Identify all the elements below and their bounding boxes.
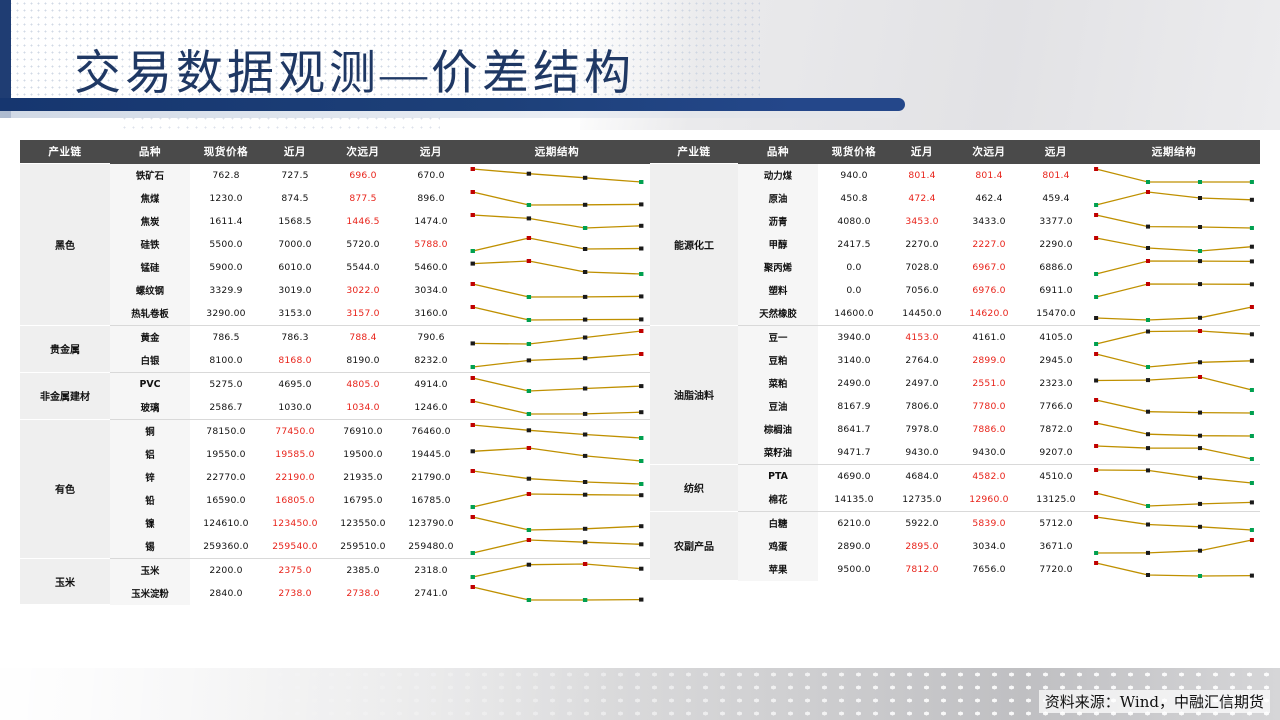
near-month-cell: 2895.0	[890, 535, 954, 558]
second-far-month-cell: 4805.0	[328, 372, 398, 396]
table-row: 苹果9500.07812.07656.07720.0	[650, 558, 1260, 581]
variety-cell: 硅铁	[110, 233, 190, 256]
spot-price-cell: 2200.0	[190, 558, 262, 582]
second-far-month-cell: 5839.0	[954, 511, 1024, 535]
column-header-1: 品种	[110, 140, 190, 164]
table-row: 能源化工动力煤940.0801.4801.4801.4	[650, 164, 1260, 187]
forward-structure-sparkline	[464, 233, 650, 256]
far-month-cell: 19445.0	[398, 443, 464, 466]
forward-structure-sparkline	[464, 164, 650, 187]
forward-structure-sparkline	[1088, 279, 1260, 302]
forward-structure-sparkline	[1088, 418, 1260, 441]
second-far-month-cell: 14620.0	[954, 302, 1024, 326]
forward-structure-sparkline	[1088, 302, 1260, 326]
table-row: 焦煤1230.0874.5877.5896.0	[20, 187, 650, 210]
second-far-month-cell: 5720.0	[328, 233, 398, 256]
variety-cell: 豆一	[738, 325, 818, 349]
table-header-row: 产业链品种现货价格近月次远月远月远期结构	[650, 140, 1260, 164]
forward-structure-sparkline	[1088, 164, 1260, 187]
variety-cell: 玉米淀粉	[110, 582, 190, 605]
variety-cell: 菜粕	[738, 372, 818, 395]
far-month-cell: 8232.0	[398, 349, 464, 373]
near-month-cell: 7000.0	[262, 233, 328, 256]
spot-price-cell: 4690.0	[818, 464, 890, 488]
near-month-cell: 7812.0	[890, 558, 954, 581]
forward-structure-sparkline	[464, 419, 650, 443]
spot-price-cell: 78150.0	[190, 419, 262, 443]
column-header-2: 现货价格	[818, 140, 890, 164]
table-row: 菜粕2490.02497.02551.02323.0	[650, 372, 1260, 395]
forward-structure-sparkline	[464, 512, 650, 535]
price-structure-table-right: 产业链品种现货价格近月次远月远月远期结构 能源化工动力煤940.0801.480…	[650, 140, 1260, 581]
forward-structure-sparkline	[464, 443, 650, 466]
spot-price-cell: 14600.0	[818, 302, 890, 326]
spot-price-cell: 5900.0	[190, 256, 262, 279]
variety-cell: 豆粕	[738, 349, 818, 372]
spot-price-cell: 0.0	[818, 256, 890, 279]
spot-price-cell: 259360.0	[190, 535, 262, 559]
second-far-month-cell: 1034.0	[328, 396, 398, 420]
near-month-cell: 786.3	[262, 325, 328, 349]
second-far-month-cell: 76910.0	[328, 419, 398, 443]
second-far-month-cell: 801.4	[954, 164, 1024, 187]
far-month-cell: 15470.0	[1024, 302, 1088, 326]
industry-chain-cell: 非金属建材	[20, 372, 110, 419]
industry-chain-cell: 纺织	[650, 464, 738, 511]
far-month-cell: 5712.0	[1024, 511, 1088, 535]
far-month-cell: 2323.0	[1024, 372, 1088, 395]
variety-cell: 白糖	[738, 511, 818, 535]
table-row: 甲醇2417.52270.02227.02290.0	[650, 233, 1260, 256]
variety-cell: 菜籽油	[738, 441, 818, 465]
near-month-cell: 8168.0	[262, 349, 328, 373]
table-row: 锰硅5900.06010.05544.05460.0	[20, 256, 650, 279]
column-header-6: 远期结构	[1088, 140, 1260, 164]
variety-cell: 锰硅	[110, 256, 190, 279]
table-row: 棕榈油8641.77978.07886.07872.0	[650, 418, 1260, 441]
forward-structure-sparkline	[1088, 372, 1260, 395]
second-far-month-cell: 7886.0	[954, 418, 1024, 441]
spot-price-cell: 124610.0	[190, 512, 262, 535]
table-row: 豆油8167.97806.07780.07766.0	[650, 395, 1260, 418]
near-month-cell: 77450.0	[262, 419, 328, 443]
near-month-cell: 3453.0	[890, 210, 954, 233]
far-month-cell: 4914.0	[398, 372, 464, 396]
forward-structure-sparkline	[1088, 187, 1260, 210]
forward-structure-sparkline	[464, 325, 650, 349]
far-month-cell: 123790.0	[398, 512, 464, 535]
second-far-month-cell: 7780.0	[954, 395, 1024, 418]
table-row: 菜籽油9471.79430.09430.09207.0	[650, 441, 1260, 465]
near-month-cell: 16805.0	[262, 489, 328, 512]
variety-cell: 铅	[110, 489, 190, 512]
second-far-month-cell: 6967.0	[954, 256, 1024, 279]
forward-structure-sparkline	[464, 489, 650, 512]
variety-cell: 苹果	[738, 558, 818, 581]
table-row: 非金属建材PVC5275.04695.04805.04914.0	[20, 372, 650, 396]
far-month-cell: 3160.0	[398, 302, 464, 326]
second-far-month-cell: 12960.0	[954, 488, 1024, 512]
spot-price-cell: 8100.0	[190, 349, 262, 373]
second-far-month-cell: 123550.0	[328, 512, 398, 535]
forward-structure-sparkline	[464, 396, 650, 420]
far-month-cell: 7872.0	[1024, 418, 1088, 441]
near-month-cell: 4153.0	[890, 325, 954, 349]
near-month-cell: 6010.0	[262, 256, 328, 279]
variety-cell: 玉米	[110, 558, 190, 582]
far-month-cell: 670.0	[398, 164, 464, 187]
near-month-cell: 5922.0	[890, 511, 954, 535]
second-far-month-cell: 2385.0	[328, 558, 398, 582]
title-underline-band	[0, 98, 905, 111]
near-month-cell: 7028.0	[890, 256, 954, 279]
spot-price-cell: 9500.0	[818, 558, 890, 581]
variety-cell: 塑料	[738, 279, 818, 302]
second-far-month-cell: 3157.0	[328, 302, 398, 326]
column-header-6: 远期结构	[464, 140, 650, 164]
forward-structure-sparkline	[464, 302, 650, 326]
far-month-cell: 6886.0	[1024, 256, 1088, 279]
near-month-cell: 2738.0	[262, 582, 328, 605]
industry-chain-cell: 有色	[20, 419, 110, 558]
variety-cell: 铜	[110, 419, 190, 443]
second-far-month-cell: 462.4	[954, 187, 1024, 210]
second-far-month-cell: 3022.0	[328, 279, 398, 302]
far-month-cell: 2945.0	[1024, 349, 1088, 372]
forward-structure-sparkline	[464, 582, 650, 605]
near-month-cell: 1568.5	[262, 210, 328, 233]
table-row: 天然橡胶14600.014450.014620.015470.0	[650, 302, 1260, 326]
spot-price-cell: 3290.00	[190, 302, 262, 326]
far-month-cell: 4105.0	[1024, 325, 1088, 349]
forward-structure-sparkline	[464, 187, 650, 210]
industry-chain-cell: 农副产品	[650, 511, 738, 581]
far-month-cell: 1246.0	[398, 396, 464, 420]
column-header-2: 现货价格	[190, 140, 262, 164]
variety-cell: 镍	[110, 512, 190, 535]
forward-structure-sparkline	[1088, 325, 1260, 349]
table-row: 鸡蛋2890.02895.03034.03671.0	[650, 535, 1260, 558]
second-far-month-cell: 788.4	[328, 325, 398, 349]
variety-cell: 玻璃	[110, 396, 190, 420]
table-row: 白银8100.08168.08190.08232.0	[20, 349, 650, 373]
table-row: 塑料0.07056.06976.06911.0	[650, 279, 1260, 302]
spot-price-cell: 4080.0	[818, 210, 890, 233]
spot-price-cell: 2840.0	[190, 582, 262, 605]
variety-cell: 豆油	[738, 395, 818, 418]
table-left: 产业链品种现货价格近月次远月远月远期结构 黑色铁矿石762.8727.5696.…	[20, 140, 650, 605]
variety-cell: 甲醇	[738, 233, 818, 256]
near-month-cell: 9430.0	[890, 441, 954, 465]
forward-structure-sparkline	[464, 535, 650, 559]
second-far-month-cell: 4582.0	[954, 464, 1024, 488]
table-row: 玉米玉米2200.02375.02385.02318.0	[20, 558, 650, 582]
table-row: 铅16590.016805.016795.016785.0	[20, 489, 650, 512]
table-row: 玻璃2586.71030.01034.01246.0	[20, 396, 650, 420]
near-month-cell: 3153.0	[262, 302, 328, 326]
second-far-month-cell: 4161.0	[954, 325, 1024, 349]
spot-price-cell: 3140.0	[818, 349, 890, 372]
far-month-cell: 3034.0	[398, 279, 464, 302]
near-month-cell: 801.4	[890, 164, 954, 187]
spot-price-cell: 2586.7	[190, 396, 262, 420]
spot-price-cell: 8641.7	[818, 418, 890, 441]
forward-structure-sparkline	[1088, 210, 1260, 233]
variety-cell: 聚丙烯	[738, 256, 818, 279]
far-month-cell: 7766.0	[1024, 395, 1088, 418]
table-row: 贵金属黄金786.5786.3788.4790.6	[20, 325, 650, 349]
column-header-3: 近月	[890, 140, 954, 164]
second-far-month-cell: 7656.0	[954, 558, 1024, 581]
far-month-cell: 21790.0	[398, 466, 464, 489]
variety-cell: 棉花	[738, 488, 818, 512]
near-month-cell: 472.4	[890, 187, 954, 210]
second-far-month-cell: 696.0	[328, 164, 398, 187]
forward-structure-sparkline	[1088, 535, 1260, 558]
far-month-cell: 16785.0	[398, 489, 464, 512]
spot-price-cell: 2890.0	[818, 535, 890, 558]
forward-structure-sparkline	[464, 210, 650, 233]
industry-chain-cell: 油脂油料	[650, 325, 738, 464]
column-header-0: 产业链	[20, 140, 110, 164]
spot-price-cell: 14135.0	[818, 488, 890, 512]
table-row: 油脂油料豆一3940.04153.04161.04105.0	[650, 325, 1260, 349]
variety-cell: 原油	[738, 187, 818, 210]
second-far-month-cell: 2738.0	[328, 582, 398, 605]
spot-price-cell: 3329.9	[190, 279, 262, 302]
table-row: 沥青4080.03453.03433.03377.0	[650, 210, 1260, 233]
spot-price-cell: 0.0	[818, 279, 890, 302]
near-month-cell: 3019.0	[262, 279, 328, 302]
near-month-cell: 2375.0	[262, 558, 328, 582]
title-underline-shadow	[0, 111, 900, 118]
forward-structure-sparkline	[1088, 441, 1260, 465]
second-far-month-cell: 19500.0	[328, 443, 398, 466]
spot-price-cell: 940.0	[818, 164, 890, 187]
near-month-cell: 2764.0	[890, 349, 954, 372]
table-row: 黑色铁矿石762.8727.5696.0670.0	[20, 164, 650, 187]
source-note: 资料来源：Wind，中融汇信期货	[1039, 690, 1270, 713]
forward-structure-sparkline	[1088, 349, 1260, 372]
forward-structure-sparkline	[1088, 395, 1260, 418]
variety-cell: 铁矿石	[110, 164, 190, 187]
table-row: 玉米淀粉2840.02738.02738.02741.0	[20, 582, 650, 605]
second-far-month-cell: 1446.5	[328, 210, 398, 233]
spot-price-cell: 2417.5	[818, 233, 890, 256]
variety-cell: 沥青	[738, 210, 818, 233]
near-month-cell: 2497.0	[890, 372, 954, 395]
far-month-cell: 3377.0	[1024, 210, 1088, 233]
industry-chain-cell: 玉米	[20, 558, 110, 605]
price-structure-table-left: 产业链品种现货价格近月次远月远月远期结构 黑色铁矿石762.8727.5696.…	[20, 140, 650, 605]
far-month-cell: 13125.0	[1024, 488, 1088, 512]
table-row: 有色铜78150.077450.076910.076460.0	[20, 419, 650, 443]
near-month-cell: 7806.0	[890, 395, 954, 418]
spot-price-cell: 1230.0	[190, 187, 262, 210]
table-row: 锌22770.022190.021935.021790.0	[20, 466, 650, 489]
far-month-cell: 2290.0	[1024, 233, 1088, 256]
variety-cell: 焦炭	[110, 210, 190, 233]
column-header-0: 产业链	[650, 140, 738, 164]
spot-price-cell: 6210.0	[818, 511, 890, 535]
table-header-row: 产业链品种现货价格近月次远月远月远期结构	[20, 140, 650, 164]
table-row: 聚丙烯0.07028.06967.06886.0	[650, 256, 1260, 279]
forward-structure-sparkline	[1088, 256, 1260, 279]
spot-price-cell: 450.8	[818, 187, 890, 210]
table-row: 螺纹钢3329.93019.03022.03034.0	[20, 279, 650, 302]
far-month-cell: 459.4	[1024, 187, 1088, 210]
far-month-cell: 1474.0	[398, 210, 464, 233]
far-month-cell: 3671.0	[1024, 535, 1088, 558]
far-month-cell: 801.4	[1024, 164, 1088, 187]
far-month-cell: 6911.0	[1024, 279, 1088, 302]
forward-structure-sparkline	[1088, 488, 1260, 512]
spot-price-cell: 3940.0	[818, 325, 890, 349]
forward-structure-sparkline	[464, 558, 650, 582]
spot-price-cell: 9471.7	[818, 441, 890, 465]
forward-structure-sparkline	[464, 466, 650, 489]
variety-cell: 棕榈油	[738, 418, 818, 441]
near-month-cell: 727.5	[262, 164, 328, 187]
variety-cell: PVC	[110, 372, 190, 396]
variety-cell: 动力煤	[738, 164, 818, 187]
far-month-cell: 896.0	[398, 187, 464, 210]
table-row: 纺织PTA4690.04684.04582.04510.0	[650, 464, 1260, 488]
spot-price-cell: 8167.9	[818, 395, 890, 418]
second-far-month-cell: 877.5	[328, 187, 398, 210]
forward-structure-sparkline	[1088, 464, 1260, 488]
table-row: 棉花14135.012735.012960.013125.0	[650, 488, 1260, 512]
industry-chain-cell: 能源化工	[650, 164, 738, 326]
column-header-1: 品种	[738, 140, 818, 164]
table-row: 焦炭1611.41568.51446.51474.0	[20, 210, 650, 233]
table-right: 产业链品种现货价格近月次远月远月远期结构 能源化工动力煤940.0801.480…	[650, 140, 1260, 581]
second-far-month-cell: 6976.0	[954, 279, 1024, 302]
near-month-cell: 259540.0	[262, 535, 328, 559]
second-far-month-cell: 16795.0	[328, 489, 398, 512]
variety-cell: 焦煤	[110, 187, 190, 210]
forward-structure-sparkline	[464, 372, 650, 396]
far-month-cell: 5460.0	[398, 256, 464, 279]
variety-cell: 白银	[110, 349, 190, 373]
second-far-month-cell: 2899.0	[954, 349, 1024, 372]
variety-cell: 鸡蛋	[738, 535, 818, 558]
near-month-cell: 4684.0	[890, 464, 954, 488]
slide-root: 交易数据观测—价差结构 产业链品种现货价格近月次远月远月远期结构 黑色铁矿石76…	[0, 0, 1280, 720]
spot-price-cell: 1611.4	[190, 210, 262, 233]
variety-cell: 锡	[110, 535, 190, 559]
table-row: 铝19550.019585.019500.019445.0	[20, 443, 650, 466]
table-row: 原油450.8472.4462.4459.4	[650, 187, 1260, 210]
far-month-cell: 76460.0	[398, 419, 464, 443]
far-month-cell: 790.6	[398, 325, 464, 349]
second-far-month-cell: 21935.0	[328, 466, 398, 489]
spot-price-cell: 786.5	[190, 325, 262, 349]
spot-price-cell: 5500.0	[190, 233, 262, 256]
table-row: 硅铁5500.07000.05720.05788.0	[20, 233, 650, 256]
column-header-5: 远月	[1024, 140, 1088, 164]
second-far-month-cell: 3034.0	[954, 535, 1024, 558]
forward-structure-sparkline	[464, 349, 650, 373]
near-month-cell: 19585.0	[262, 443, 328, 466]
industry-chain-cell: 黑色	[20, 164, 110, 326]
variety-cell: PTA	[738, 464, 818, 488]
spot-price-cell: 19550.0	[190, 443, 262, 466]
far-month-cell: 259480.0	[398, 535, 464, 559]
column-header-3: 近月	[262, 140, 328, 164]
page-title: 交易数据观测—价差结构	[74, 34, 635, 103]
column-header-5: 远月	[398, 140, 464, 164]
near-month-cell: 2270.0	[890, 233, 954, 256]
near-month-cell: 4695.0	[262, 372, 328, 396]
column-header-4: 次远月	[954, 140, 1024, 164]
spot-price-cell: 5275.0	[190, 372, 262, 396]
variety-cell: 铝	[110, 443, 190, 466]
variety-cell: 锌	[110, 466, 190, 489]
far-month-cell: 5788.0	[398, 233, 464, 256]
spot-price-cell: 2490.0	[818, 372, 890, 395]
near-month-cell: 14450.0	[890, 302, 954, 326]
forward-structure-sparkline	[1088, 558, 1260, 581]
far-month-cell: 7720.0	[1024, 558, 1088, 581]
second-far-month-cell: 2551.0	[954, 372, 1024, 395]
near-month-cell: 7056.0	[890, 279, 954, 302]
second-far-month-cell: 259510.0	[328, 535, 398, 559]
table-row: 锡259360.0259540.0259510.0259480.0	[20, 535, 650, 559]
column-header-4: 次远月	[328, 140, 398, 164]
near-month-cell: 7978.0	[890, 418, 954, 441]
variety-cell: 热轧卷板	[110, 302, 190, 326]
second-far-month-cell: 5544.0	[328, 256, 398, 279]
forward-structure-sparkline	[1088, 511, 1260, 535]
variety-cell: 螺纹钢	[110, 279, 190, 302]
variety-cell: 黄金	[110, 325, 190, 349]
table-row: 农副产品白糖6210.05922.05839.05712.0	[650, 511, 1260, 535]
near-month-cell: 1030.0	[262, 396, 328, 420]
industry-chain-cell: 贵金属	[20, 325, 110, 372]
second-far-month-cell: 8190.0	[328, 349, 398, 373]
near-month-cell: 874.5	[262, 187, 328, 210]
second-far-month-cell: 9430.0	[954, 441, 1024, 465]
spot-price-cell: 762.8	[190, 164, 262, 187]
forward-structure-sparkline	[464, 256, 650, 279]
forward-structure-sparkline	[1088, 233, 1260, 256]
far-month-cell: 2318.0	[398, 558, 464, 582]
table-row: 豆粕3140.02764.02899.02945.0	[650, 349, 1260, 372]
far-month-cell: 9207.0	[1024, 441, 1088, 465]
table-row: 热轧卷板3290.003153.03157.03160.0	[20, 302, 650, 326]
table-right-body: 能源化工动力煤940.0801.4801.4801.4原油450.8472.44…	[650, 164, 1260, 581]
spot-price-cell: 22770.0	[190, 466, 262, 489]
far-month-cell: 2741.0	[398, 582, 464, 605]
near-month-cell: 12735.0	[890, 488, 954, 512]
near-month-cell: 22190.0	[262, 466, 328, 489]
second-far-month-cell: 2227.0	[954, 233, 1024, 256]
variety-cell: 天然橡胶	[738, 302, 818, 326]
forward-structure-sparkline	[464, 279, 650, 302]
spot-price-cell: 16590.0	[190, 489, 262, 512]
table-left-body: 黑色铁矿石762.8727.5696.0670.0焦煤1230.0874.587…	[20, 164, 650, 605]
far-month-cell: 4510.0	[1024, 464, 1088, 488]
second-far-month-cell: 3433.0	[954, 210, 1024, 233]
table-row: 镍124610.0123450.0123550.0123790.0	[20, 512, 650, 535]
near-month-cell: 123450.0	[262, 512, 328, 535]
